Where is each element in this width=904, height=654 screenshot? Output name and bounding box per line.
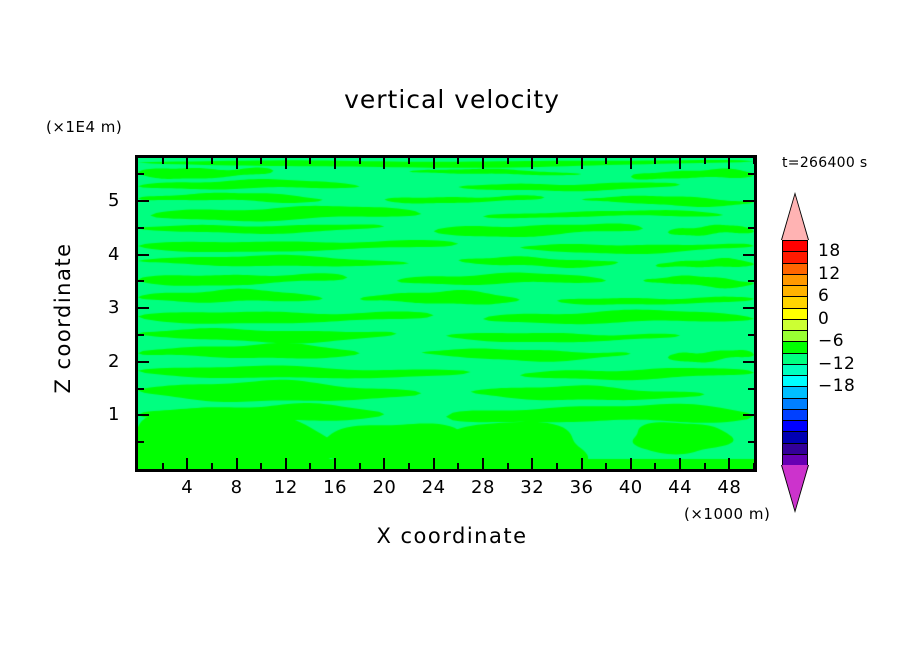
y-tick-minor (138, 388, 144, 390)
y-tick-label: 2 (88, 351, 120, 372)
x-tick-label: 40 (609, 477, 653, 498)
x-tick-minor (753, 158, 755, 164)
y-tick-major (743, 254, 754, 256)
x-tick-major (679, 158, 681, 169)
y-tick-major (743, 361, 754, 363)
x-tick-major (186, 158, 188, 169)
colorbar-over-arrow (782, 195, 808, 240)
colorbar-tick-label: −6 (818, 331, 844, 351)
x-tick-major (581, 458, 583, 469)
y-tick-label: 1 (88, 404, 120, 425)
x-tick-major (334, 458, 336, 469)
y-tick-major (743, 200, 754, 202)
x-tick-major (482, 158, 484, 169)
y-tick-minor (138, 441, 144, 443)
colorbar-tick-label: −18 (818, 376, 855, 396)
x-tick-minor (162, 158, 164, 164)
colorbar-tick-label: 0 (818, 309, 829, 329)
x-tick-label: 12 (264, 477, 308, 498)
chart-title: vertical velocity (0, 85, 904, 114)
x-tick-minor (654, 158, 656, 164)
x-tick-major (728, 158, 730, 169)
x-tick-minor (605, 463, 607, 469)
y-tick-minor (138, 280, 144, 282)
x-tick-major (581, 158, 583, 169)
x-tick-minor (654, 463, 656, 469)
x-tick-label: 32 (510, 477, 554, 498)
y-tick-minor (138, 173, 144, 175)
x-tick-major (236, 458, 238, 469)
y-tick-major (138, 307, 149, 309)
x-tick-minor (704, 463, 706, 469)
y-tick-label: 5 (88, 190, 120, 211)
x-tick-major (433, 458, 435, 469)
x-tick-major (728, 458, 730, 469)
y-tick-major (138, 200, 149, 202)
x-tick-minor (753, 463, 755, 469)
x-tick-minor (162, 463, 164, 469)
x-tick-major (285, 458, 287, 469)
colorbar-tick-label: 12 (818, 264, 841, 284)
y-tick-major (743, 307, 754, 309)
x-tick-minor (359, 463, 361, 469)
x-tick-major (531, 158, 533, 169)
y-tick-minor (138, 334, 144, 336)
x-tick-label: 36 (560, 477, 604, 498)
y-tick-major (138, 414, 149, 416)
x-tick-label: 20 (362, 477, 406, 498)
x-tick-major (630, 158, 632, 169)
x-tick-label: 24 (412, 477, 456, 498)
x-tick-minor (211, 158, 213, 164)
y-tick-major (743, 414, 754, 416)
y-tick-minor (748, 441, 754, 443)
x-tick-major (383, 158, 385, 169)
y-axis-title: Z coordinate (51, 198, 75, 438)
x-tick-label: 8 (215, 477, 259, 498)
x-tick-major (285, 158, 287, 169)
x-tick-minor (309, 158, 311, 164)
vertical-velocity-field (138, 158, 754, 469)
x-tick-major (334, 158, 336, 169)
x-tick-major (186, 458, 188, 469)
y-tick-label: 4 (88, 244, 120, 265)
x-tick-minor (457, 158, 459, 164)
x-tick-minor (507, 158, 509, 164)
y-tick-minor (748, 334, 754, 336)
y-tick-minor (748, 173, 754, 175)
x-tick-major (383, 458, 385, 469)
x-tick-label: 28 (461, 477, 505, 498)
y-tick-label: 3 (88, 297, 120, 318)
x-tick-minor (704, 158, 706, 164)
contour-plot-area (135, 155, 757, 472)
x-tick-minor (260, 158, 262, 164)
x-tick-major (236, 158, 238, 169)
timestamp-label: t=266400 s (782, 155, 867, 171)
x-tick-minor (605, 158, 607, 164)
x-tick-minor (408, 158, 410, 164)
y-tick-major (138, 361, 149, 363)
x-tick-label: 4 (165, 477, 209, 498)
x-tick-minor (359, 158, 361, 164)
x-tick-minor (309, 463, 311, 469)
x-tick-minor (556, 463, 558, 469)
colorbar: 181260−6−12−18 (782, 240, 808, 465)
y-tick-major (138, 254, 149, 256)
colorbar-tick-label: 6 (818, 286, 829, 306)
y-tick-minor (748, 280, 754, 282)
x-tick-major (433, 158, 435, 169)
x-tick-major (482, 458, 484, 469)
colorbar-tick-label: 18 (818, 241, 841, 261)
x-axis-title: X coordinate (0, 524, 904, 548)
x-tick-label: 48 (707, 477, 751, 498)
y-axis-unit-label: (×1E4 m) (46, 118, 122, 136)
y-tick-minor (748, 227, 754, 229)
x-tick-minor (556, 158, 558, 164)
y-tick-minor (748, 388, 754, 390)
colorbar-under-arrow (782, 465, 808, 510)
x-tick-minor (457, 463, 459, 469)
x-axis-unit-label: (×1000 m) (684, 505, 770, 523)
x-tick-minor (211, 463, 213, 469)
colorbar-tick-label: −12 (818, 354, 855, 374)
x-tick-label: 44 (658, 477, 702, 498)
x-tick-minor (260, 463, 262, 469)
x-tick-label: 16 (313, 477, 357, 498)
x-tick-minor (408, 463, 410, 469)
x-tick-minor (507, 463, 509, 469)
x-tick-major (679, 458, 681, 469)
y-tick-minor (138, 227, 144, 229)
x-tick-major (630, 458, 632, 469)
x-tick-major (531, 458, 533, 469)
